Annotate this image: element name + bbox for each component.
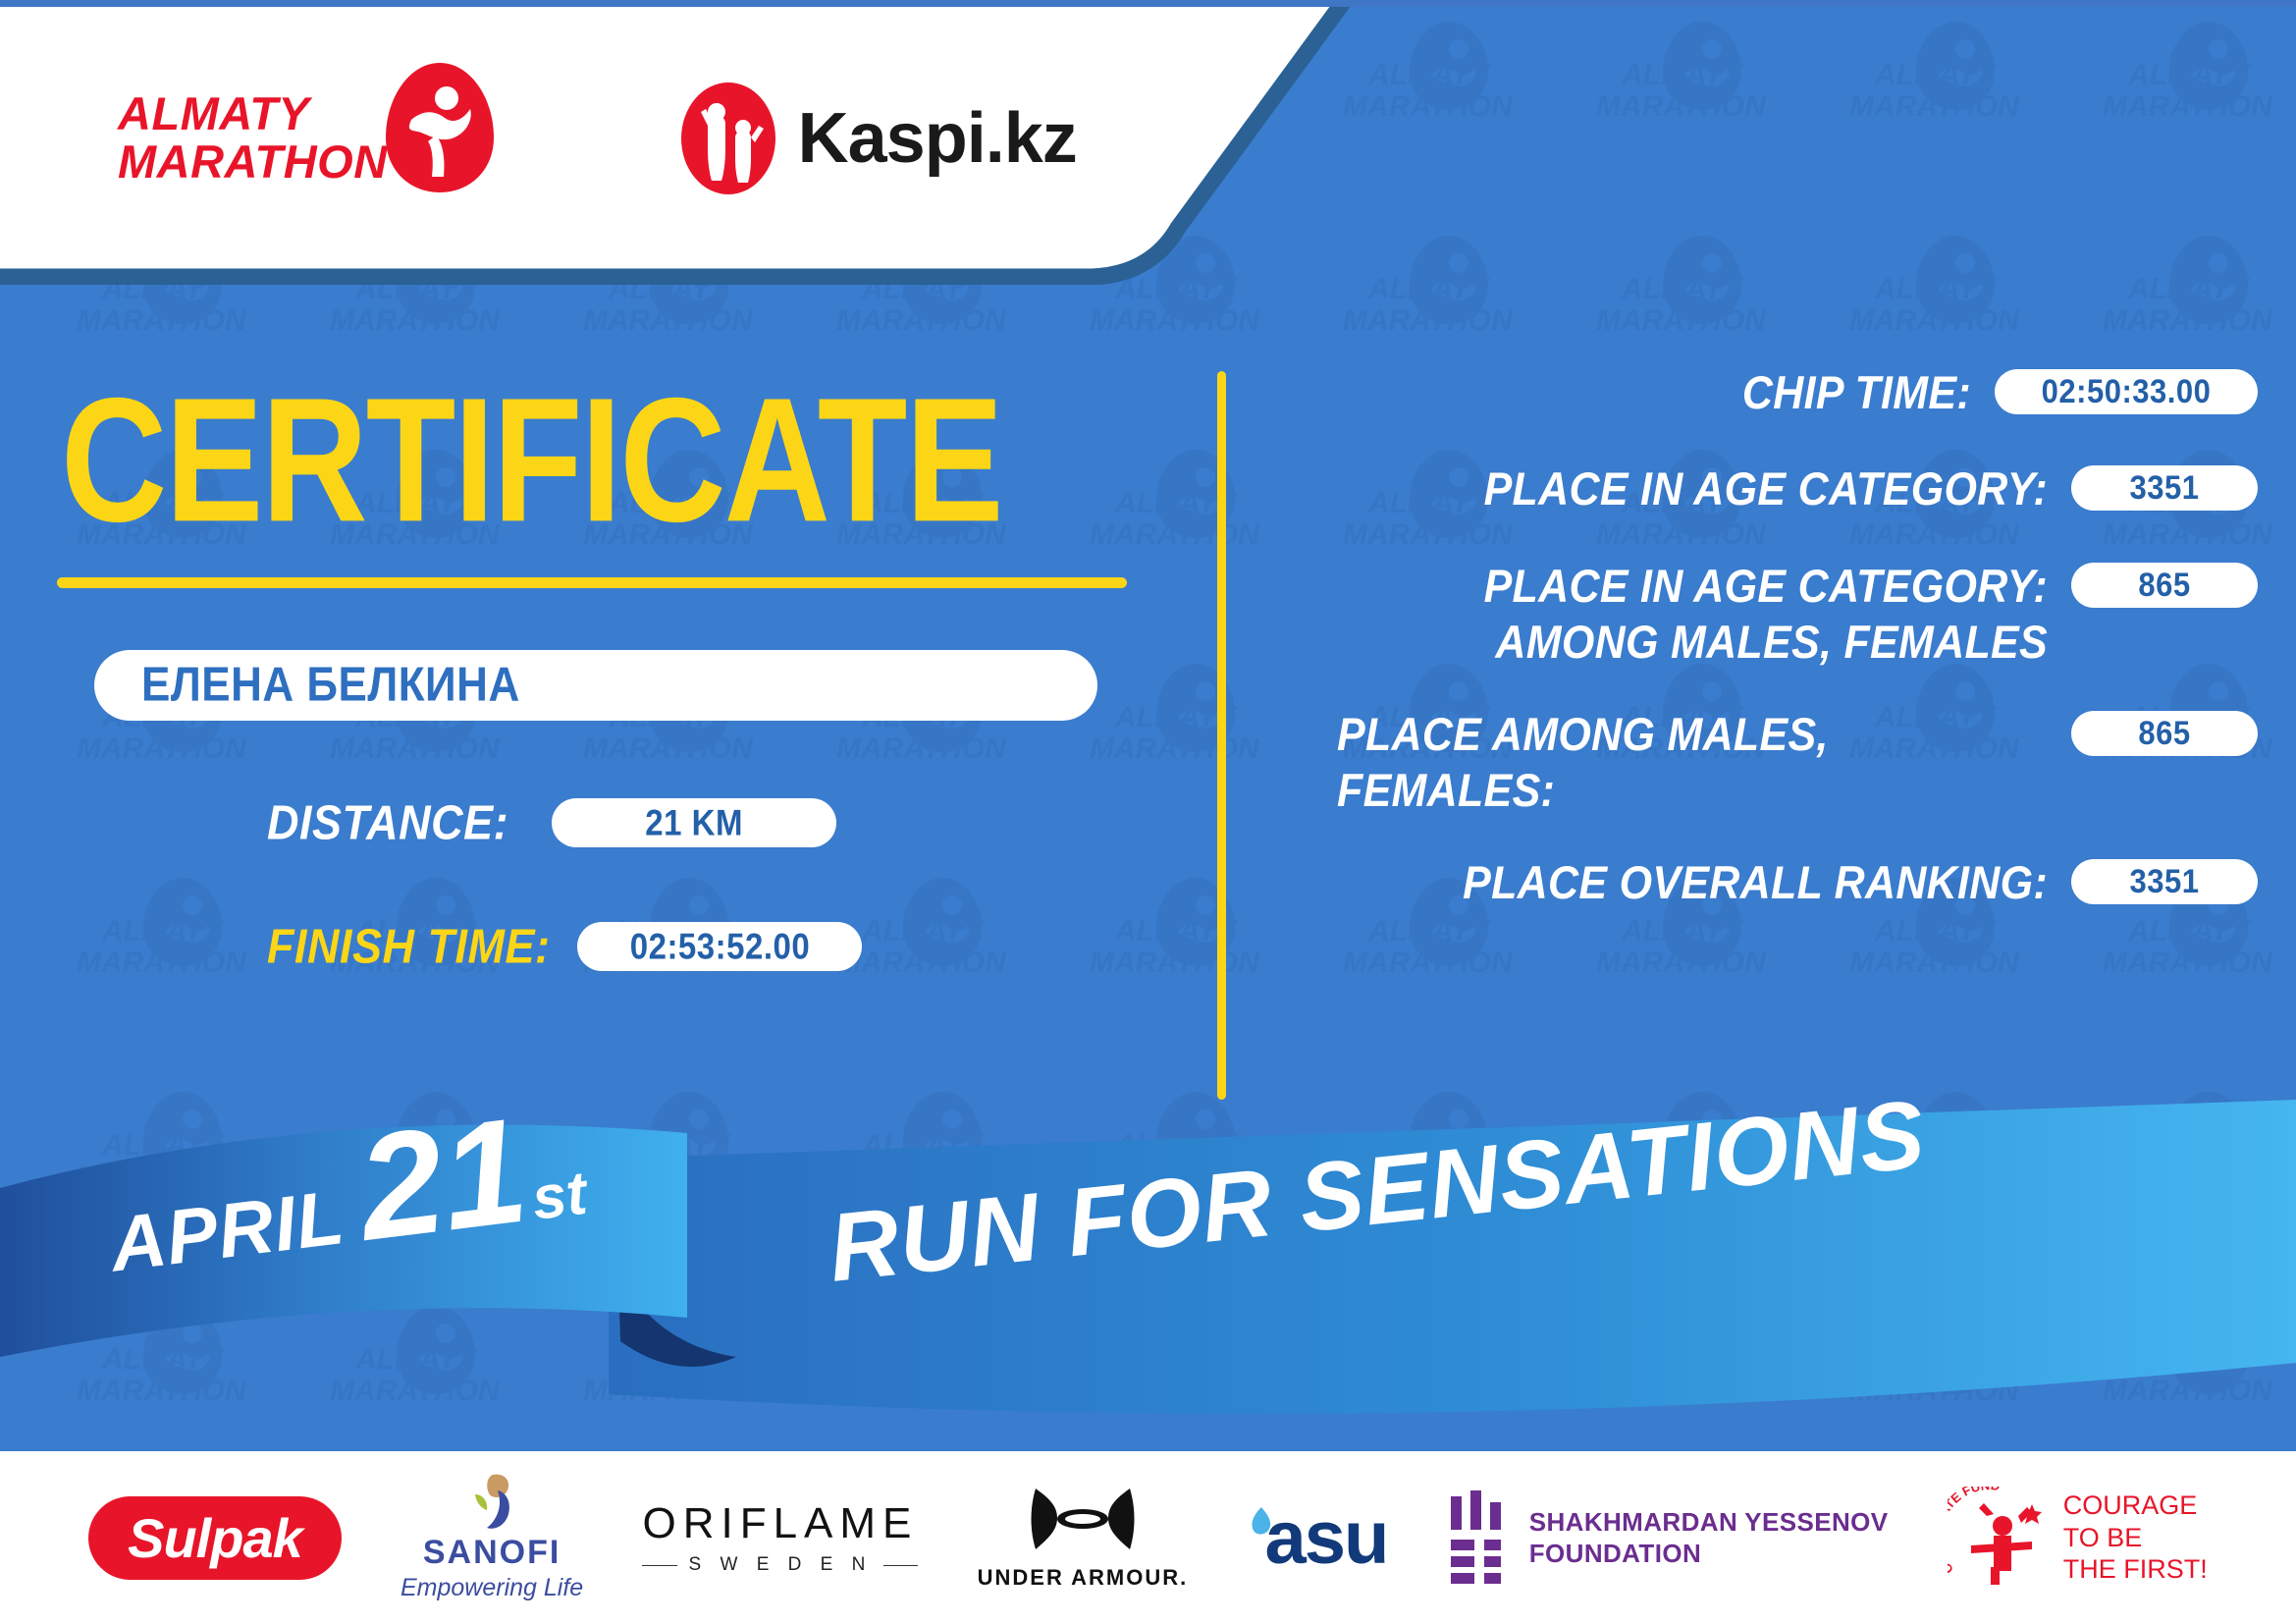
place-overall-ranking-label: PLACE OVERALL RANKING: bbox=[1276, 855, 2071, 912]
place-among-gender-value: 865 bbox=[2138, 714, 2190, 753]
logo-line-2: MARATHON bbox=[118, 138, 388, 187]
certificate-page: ALMATY MARATHON ALMATY MARATHON bbox=[0, 0, 2296, 1624]
page-title: CERTIFICATE bbox=[61, 371, 1002, 548]
kaspi-logo: Kaspi.kz bbox=[674, 81, 1077, 196]
sponsor-oriflame: ORIFLAME S W E D E N bbox=[642, 1499, 918, 1576]
yessenov-bars-icon bbox=[1447, 1490, 1512, 1585]
header-logos: ALMATY MARATHON Kaspi.kz bbox=[0, 0, 1227, 277]
almaty-marathon-wordmark: ALMATY MARATHON bbox=[118, 90, 388, 187]
sponsor-under-armour: UNDER ARMOUR. bbox=[978, 1485, 1189, 1591]
place-age-among-gender-value-pill: 865 bbox=[2071, 563, 2258, 608]
sponsor-yessenov-foundation: SHAKHMARDAN YESSENOV FOUNDATION bbox=[1447, 1490, 1889, 1585]
courage-line-3: THE FIRST! bbox=[2063, 1553, 2208, 1586]
place-among-gender-label: PLACE AMONG MALES, FEMALES: bbox=[1276, 707, 2071, 820]
yessenov-wordmark: SHAKHMARDAN YESSENOV FOUNDATION bbox=[1529, 1506, 1889, 1570]
finish-time-label: FINISH TIME: bbox=[267, 918, 550, 974]
distance-value: 21 KM bbox=[645, 802, 743, 844]
distance-row: DISTANCE: 21 KM bbox=[267, 797, 836, 848]
place-among-gender-value-pill: 865 bbox=[2071, 711, 2258, 756]
logo-line-1: ALMATY bbox=[118, 90, 388, 138]
chip-time-value-pill: 02:50:33.00 bbox=[1995, 369, 2258, 414]
sanofi-wordmark: SANOFI bbox=[423, 1534, 561, 1572]
oriflame-rule-left bbox=[642, 1565, 676, 1566]
stat-row: PLACE IN AGE CATEGORY: AMONG MALES, FEMA… bbox=[1276, 559, 2258, 662]
title-underline bbox=[57, 577, 1127, 588]
courage-wordmark: COURAGE TO BE THE FIRST! bbox=[2063, 1489, 2208, 1587]
distance-label: DISTANCE: bbox=[267, 794, 508, 850]
kaspi-wordmark: Kaspi.kz bbox=[798, 98, 1077, 179]
stat-row: PLACE IN AGE CATEGORY: 3351 bbox=[1276, 461, 2258, 513]
oriflame-subtitle-row: S W E D E N bbox=[642, 1554, 918, 1576]
event-day-suffix: st bbox=[528, 1159, 590, 1234]
courage-line-1: COURAGE bbox=[2063, 1489, 2208, 1522]
courage-runner-icon: CORPORATE FUND bbox=[1948, 1487, 2054, 1589]
kaspi-people-icon bbox=[674, 81, 782, 196]
yessenov-line-1: SHAKHMARDAN YESSENOV bbox=[1529, 1506, 1889, 1539]
stat-row: PLACE OVERALL RANKING: 3351 bbox=[1276, 855, 2258, 906]
place-age-among-gender-label: PLACE IN AGE CATEGORY: AMONG MALES, FEMA… bbox=[1276, 559, 2071, 672]
svg-text:CORPORATE FUND: CORPORATE FUND bbox=[1948, 1487, 2001, 1577]
results-stats-list: CHIP TIME: 02:50:33.00 PLACE IN AGE CATE… bbox=[1276, 365, 2258, 951]
sanofi-mark-icon bbox=[454, 1473, 530, 1532]
stat-row: CHIP TIME: 02:50:33.00 bbox=[1276, 365, 2258, 416]
under-armour-icon bbox=[1026, 1485, 1140, 1559]
place-in-age-category-value: 3351 bbox=[2130, 468, 2200, 508]
oriflame-wordmark: ORIFLAME bbox=[642, 1499, 918, 1548]
place-age-among-gender-value: 865 bbox=[2138, 566, 2190, 605]
under-armour-wordmark: UNDER ARMOUR. bbox=[978, 1565, 1189, 1591]
vertical-divider bbox=[1217, 371, 1226, 1100]
place-in-age-category-label: PLACE IN AGE CATEGORY: bbox=[1276, 461, 2071, 518]
yessenov-line-2: FOUNDATION bbox=[1529, 1538, 1889, 1570]
finish-time-value: 02:53:52.00 bbox=[630, 926, 810, 968]
distance-value-pill: 21 KM bbox=[552, 798, 836, 847]
stat-row: PLACE AMONG MALES, FEMALES: 865 bbox=[1276, 707, 2258, 810]
runner-drop-icon bbox=[382, 59, 498, 196]
finish-time-value-pill: 02:53:52.00 bbox=[577, 922, 862, 971]
sponsor-asu: asu bbox=[1248, 1495, 1388, 1581]
sanofi-tagline: Empowering Life bbox=[400, 1574, 583, 1602]
asu-wordmark: asu bbox=[1265, 1495, 1388, 1581]
participant-name-field: ЕЛЕНА БЕЛКИНА bbox=[94, 650, 1097, 721]
oriflame-subtitle: S W E D E N bbox=[677, 1554, 884, 1576]
participant-name: ЕЛЕНА БЕЛКИНА bbox=[141, 658, 520, 713]
place-overall-ranking-value: 3351 bbox=[2130, 862, 2200, 901]
almaty-marathon-logo: ALMATY MARATHON bbox=[118, 81, 498, 196]
top-border-line bbox=[0, 0, 2296, 7]
chip-time-value: 02:50:33.00 bbox=[2042, 372, 2212, 411]
finish-time-row: FINISH TIME: 02:53:52.00 bbox=[267, 921, 862, 972]
sponsor-bar: Sulpak SANOFI Empowering Life ORIFLAME S… bbox=[0, 1451, 2296, 1624]
sponsor-sulpak: Sulpak bbox=[88, 1496, 342, 1580]
place-overall-ranking-value-pill: 3351 bbox=[2071, 859, 2258, 904]
oriflame-rule-right bbox=[883, 1565, 918, 1566]
sponsor-sanofi: SANOFI Empowering Life bbox=[400, 1473, 583, 1602]
place-in-age-category-value-pill: 3351 bbox=[2071, 465, 2258, 511]
sponsor-courage-fund: CORPORATE FUND COURAGE TO BE THE FIRST! bbox=[1948, 1487, 2208, 1589]
courage-line-2: TO BE bbox=[2063, 1522, 2208, 1554]
event-day: 21 bbox=[352, 1103, 533, 1256]
sulpak-wordmark: Sulpak bbox=[128, 1506, 302, 1570]
chip-time-label: CHIP TIME: bbox=[1276, 365, 1995, 422]
